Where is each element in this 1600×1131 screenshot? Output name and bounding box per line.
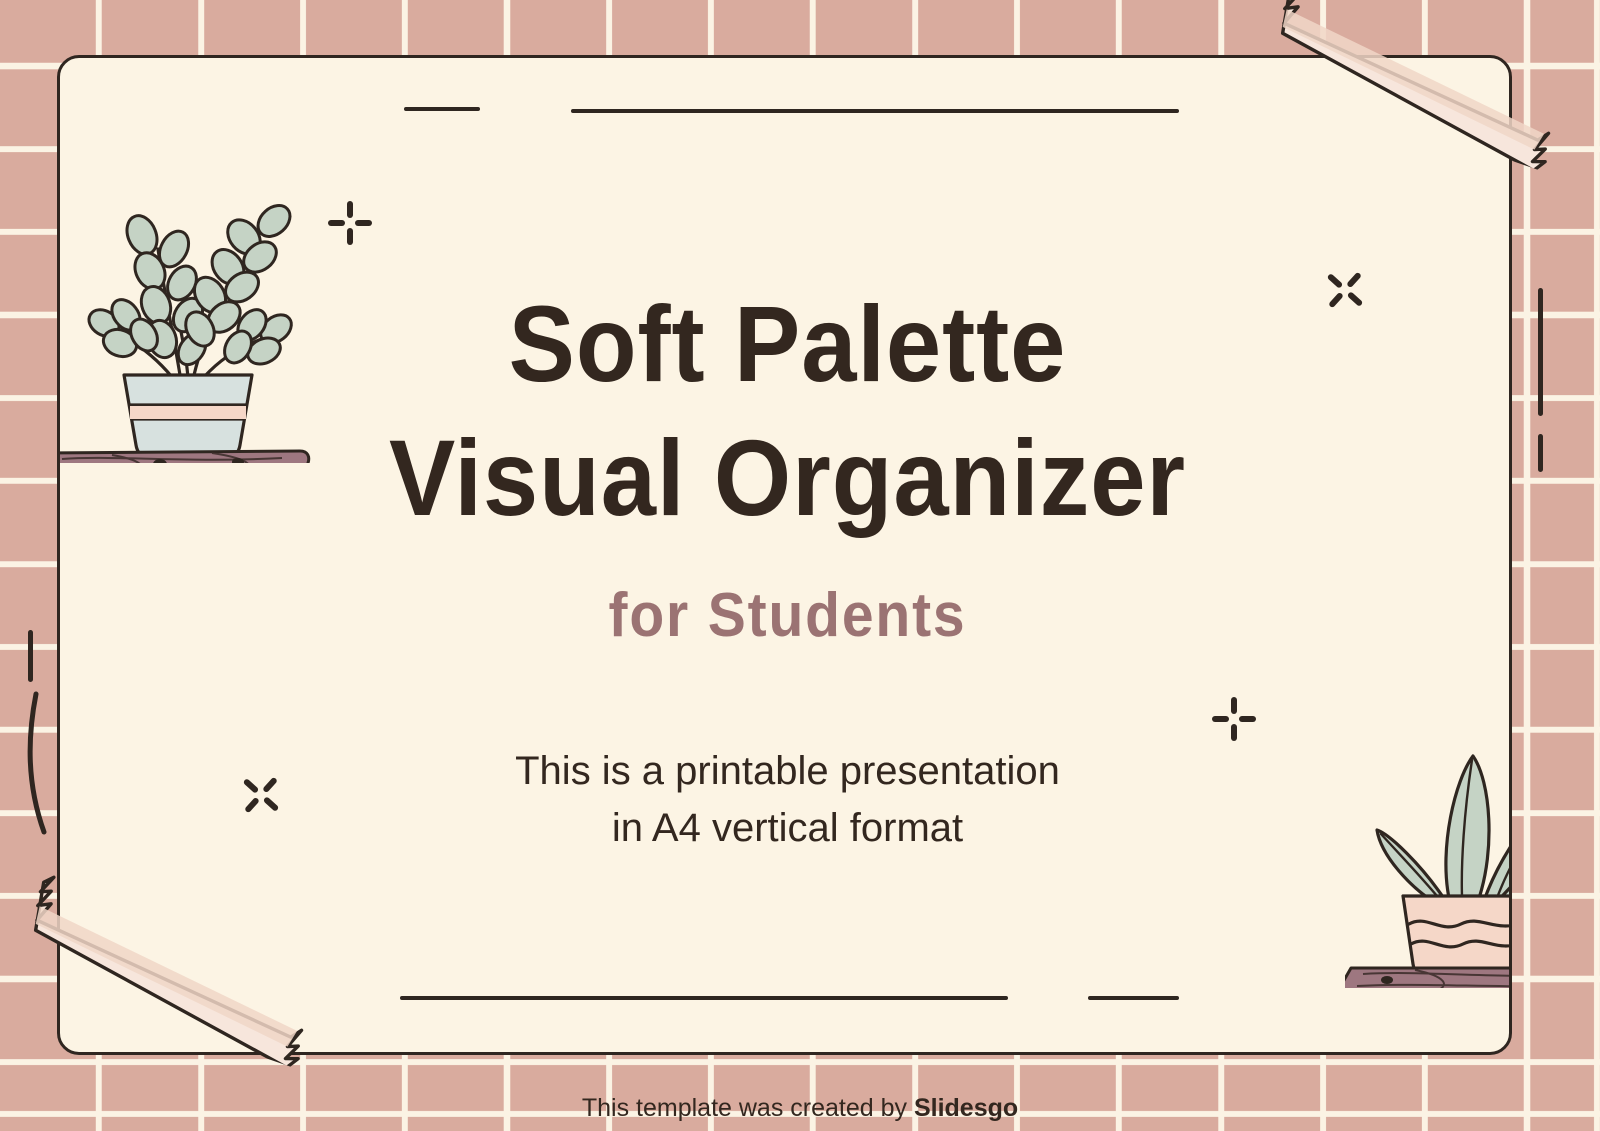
- decorative-dash-right: [1538, 434, 1543, 472]
- decorative-line-bottom-long: [400, 996, 1008, 1000]
- sparkle-icon: [1212, 697, 1256, 741]
- footer-text: This template was created by: [582, 1094, 914, 1122]
- footer-credit: This template was created by Slidesgo: [0, 1094, 1600, 1123]
- snake-plant-on-shelf: [1345, 738, 1512, 988]
- decorative-line-top-long: [571, 109, 1179, 113]
- decorative-line-top-short: [404, 107, 480, 111]
- decorative-stroke-right-long: [1538, 288, 1543, 416]
- content-card: Soft Palette Visual Organizer for Studen…: [57, 55, 1512, 1055]
- eucalyptus-plant-on-shelf: [57, 163, 362, 463]
- decorative-line-bottom-short: [1088, 996, 1179, 1000]
- page-subtitle: for Students: [118, 580, 1457, 651]
- slide-canvas: Soft Palette Visual Organizer for Studen…: [0, 0, 1600, 1131]
- decorative-dash-left: [28, 630, 33, 682]
- footer-brand: Slidesgo: [914, 1094, 1018, 1122]
